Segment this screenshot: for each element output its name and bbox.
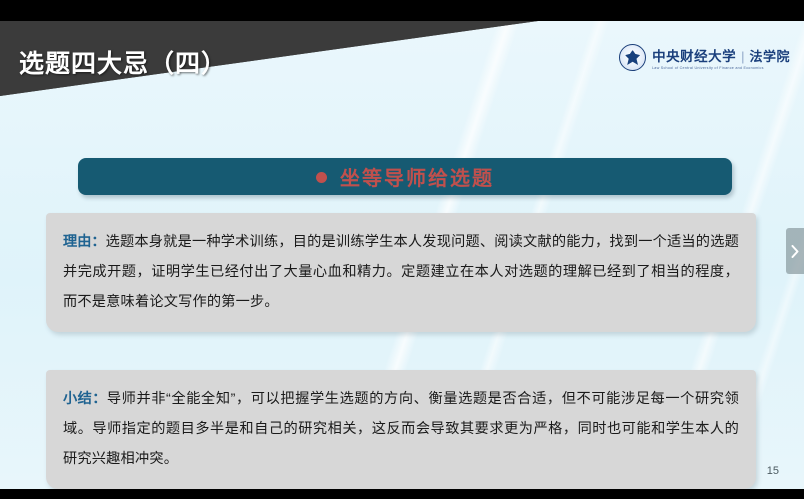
reason-paragraph: 理由：选题本身就是一种学术训练，目的是训练学生本人发现问题、阅读文献的能力，找到… — [63, 227, 739, 317]
chevron-right-icon — [791, 245, 799, 258]
logo-university-name: 中央财经大学 — [652, 45, 736, 65]
summary-body: 导师并非“全能全知”，可以把握学生选题的方向、衡量选题是否合适，但不可能涉足每一… — [63, 391, 739, 467]
logo-text-block: 中央财经大学 | 法学院 Law School of Central Unive… — [652, 45, 790, 70]
reason-panel: 理由：选题本身就是一种学术训练，目的是训练学生本人发现问题、阅读文献的能力，找到… — [46, 213, 756, 332]
summary-paragraph: 小结：导师并非“全能全知”，可以把握学生选题的方向、衡量选题是否合适，但不可能涉… — [63, 384, 739, 474]
logo-school-name: 法学院 — [749, 46, 790, 65]
slide-canvas: 选题四大忌（四） 中央财经大学 | 法学院 Law School of Cent… — [0, 21, 804, 489]
summary-panel: 小结：导师并非“全能全知”，可以把握学生选题的方向、衡量选题是否合适，但不可能涉… — [46, 370, 756, 489]
section-title: 坐等导师给选题 — [340, 162, 494, 191]
reason-label: 理由： — [63, 234, 106, 250]
logo-english-name: Law School of Central University of Fina… — [652, 66, 793, 70]
reason-body: 选题本身就是一种学术训练，目的是训练学生本人发现问题、阅读文献的能力，找到一个适… — [63, 234, 739, 310]
page-title: 选题四大忌（四） — [19, 44, 227, 80]
university-logo: 中央财经大学 | 法学院 Law School of Central Unive… — [619, 44, 790, 71]
page-number: 15 — [767, 465, 779, 477]
slide-viewer: 选题四大忌（四） 中央财经大学 | 法学院 Law School of Cent… — [0, 0, 804, 499]
bullet-dot-icon — [316, 172, 327, 183]
summary-label: 小结： — [63, 391, 107, 407]
logo-name-row: 中央财经大学 | 法学院 — [652, 45, 790, 65]
next-slide-button[interactable] — [786, 228, 804, 274]
university-seal-icon — [619, 44, 646, 71]
section-header-bar: 坐等导师给选题 — [78, 158, 732, 195]
logo-divider: | — [741, 50, 744, 63]
